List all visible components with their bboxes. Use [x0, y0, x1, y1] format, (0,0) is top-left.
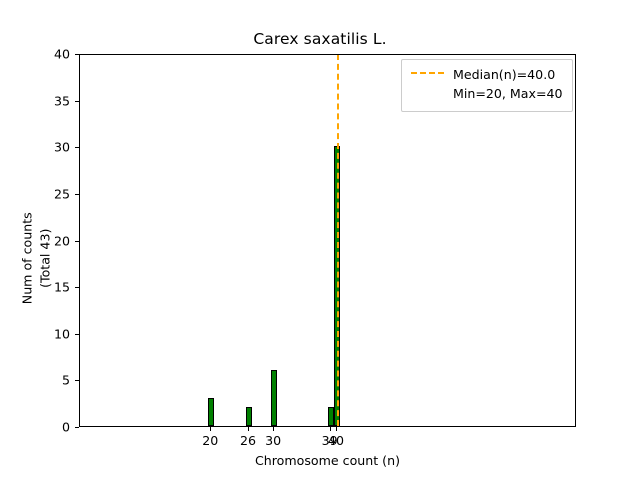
y-axis-tick-label: 40: [30, 47, 70, 62]
y-axis-tick: [75, 427, 79, 428]
x-axis-title: Chromosome count (n): [79, 453, 576, 468]
y-axis-tick-label: 5: [30, 373, 70, 388]
y-axis-title-line2: (Total 43): [37, 72, 55, 445]
y-axis-title: Num of counts (Total 43): [18, 72, 55, 445]
bar: [246, 407, 252, 426]
chart-figure: Carex saxatilis L. Num of counts (Total …: [0, 0, 640, 480]
legend-label-median: Median(n)=40.0: [453, 66, 563, 85]
x-axis-tick: [273, 427, 274, 431]
legend-text: Median(n)=40.0 Min=20, Max=40: [453, 66, 563, 104]
y-axis-title-line1: Num of counts: [18, 72, 36, 445]
y-axis-tick-label: 35: [30, 93, 70, 108]
x-axis-tick: [248, 427, 249, 431]
y-axis-tick-label: 25: [30, 186, 70, 201]
y-axis-tick-label: 10: [30, 326, 70, 341]
bar: [208, 398, 214, 426]
chart-title: Carex saxatilis L.: [0, 30, 640, 48]
median-line-legend-swatch: [411, 72, 444, 74]
y-axis-tick-label: 15: [30, 280, 70, 295]
x-axis-tick-label: 40: [306, 433, 366, 448]
bar: [271, 370, 277, 426]
y-axis-tick-label: 20: [30, 233, 70, 248]
x-axis-tick: [336, 427, 337, 431]
y-axis-tick-label: 0: [30, 420, 70, 435]
legend: Median(n)=40.0 Min=20, Max=40: [401, 59, 573, 112]
median-line: [337, 55, 339, 426]
x-axis-tick: [330, 427, 331, 431]
legend-label-minmax: Min=20, Max=40: [453, 85, 563, 104]
x-axis-tick-label: 30: [243, 433, 303, 448]
x-axis-tick: [210, 427, 211, 431]
y-axis-tick-label: 30: [30, 140, 70, 155]
